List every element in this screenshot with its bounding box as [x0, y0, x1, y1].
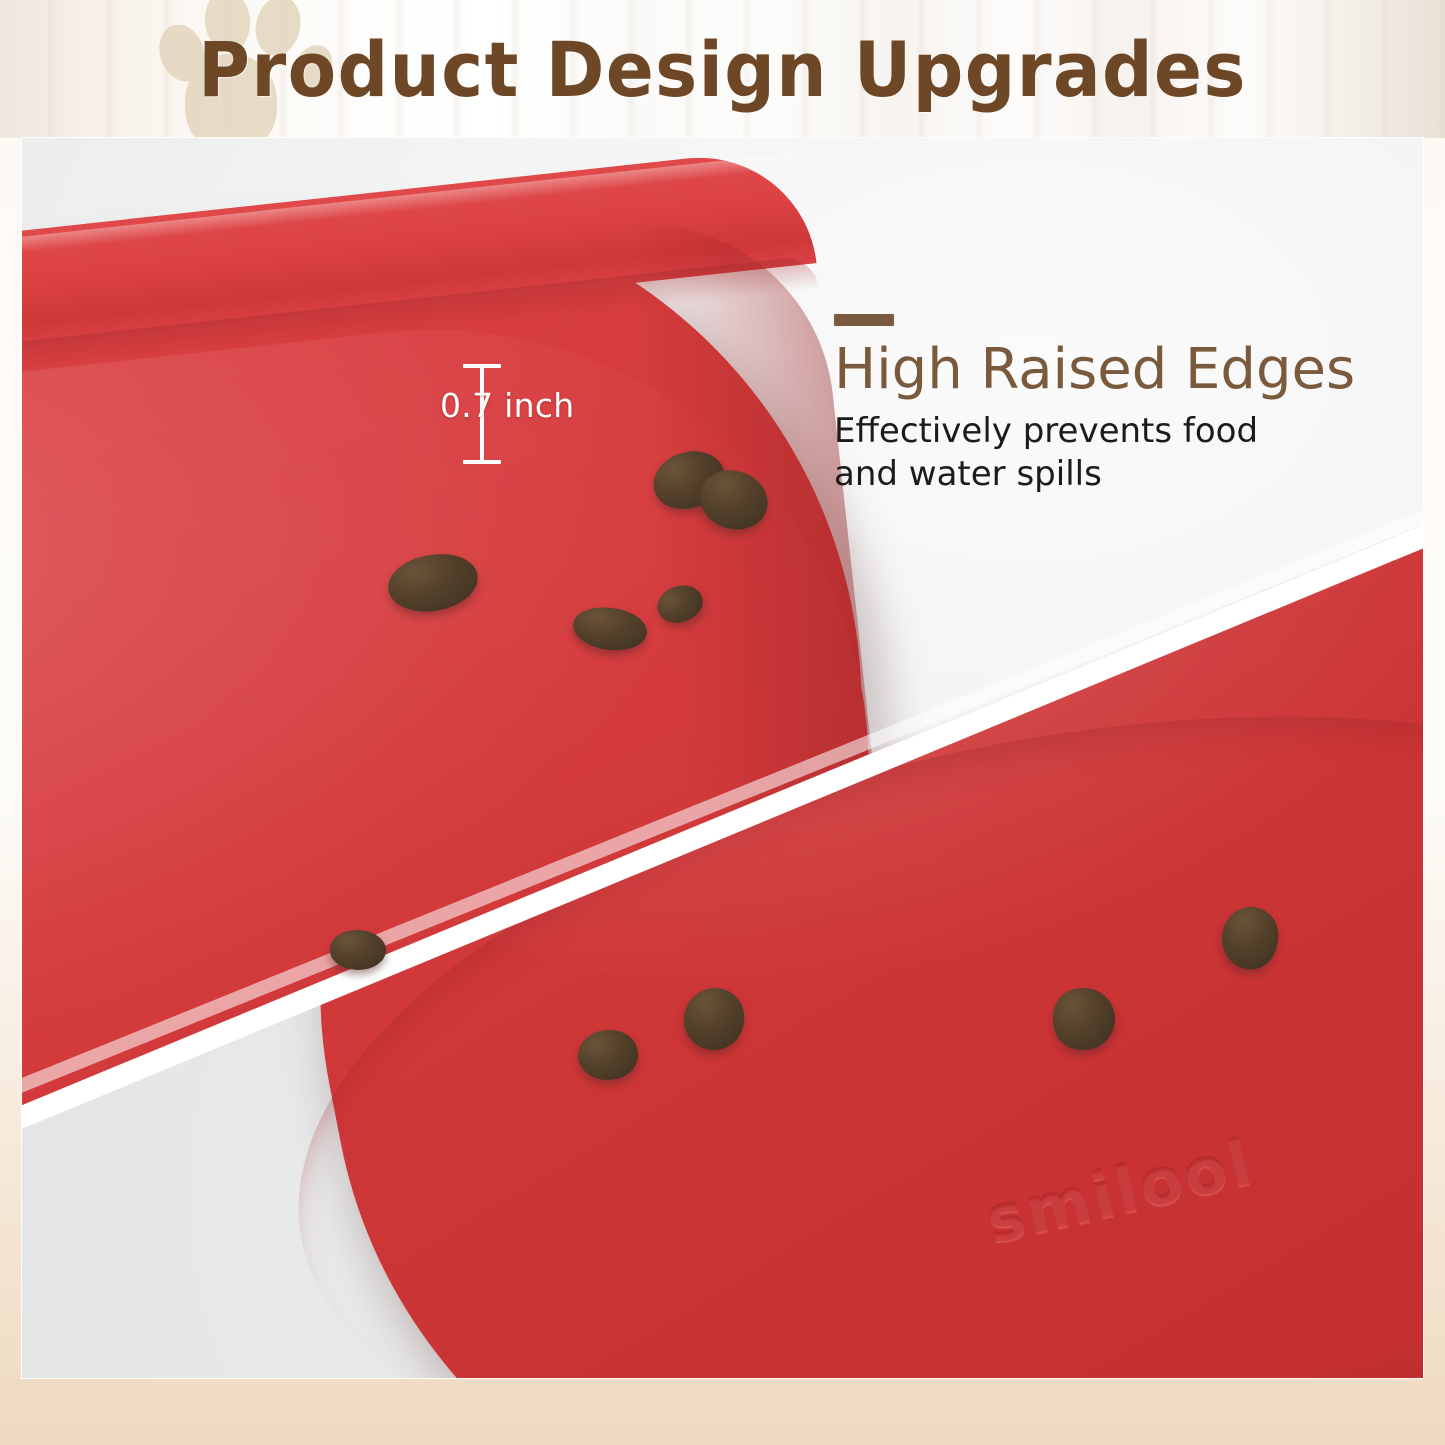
feature-subtext-line-1: Effectively prevents food — [834, 410, 1355, 452]
feature-subtext-line-2: and water spills — [834, 453, 1355, 495]
accent-dash — [834, 314, 894, 326]
product-infographic: Product Design Upgrades 0.7 inch — [0, 0, 1445, 1445]
feature-heading: High Raised Edges — [834, 340, 1355, 400]
header-banner: Product Design Upgrades — [0, 0, 1445, 138]
product-photo-panel: 0.7 inch smilool High Raised Edges Effec… — [22, 138, 1423, 1378]
page-title: Product Design Upgrades — [51, 0, 1395, 138]
dimension-cap-bottom — [463, 460, 501, 464]
feature-subtext: Effectively prevents food and water spil… — [834, 410, 1355, 494]
dimension-label: 0.7 inch — [440, 386, 610, 425]
feature-block-high-raised-edges: High Raised Edges Effectively prevents f… — [834, 314, 1355, 495]
dimension-callout: 0.7 inch — [458, 360, 618, 468]
